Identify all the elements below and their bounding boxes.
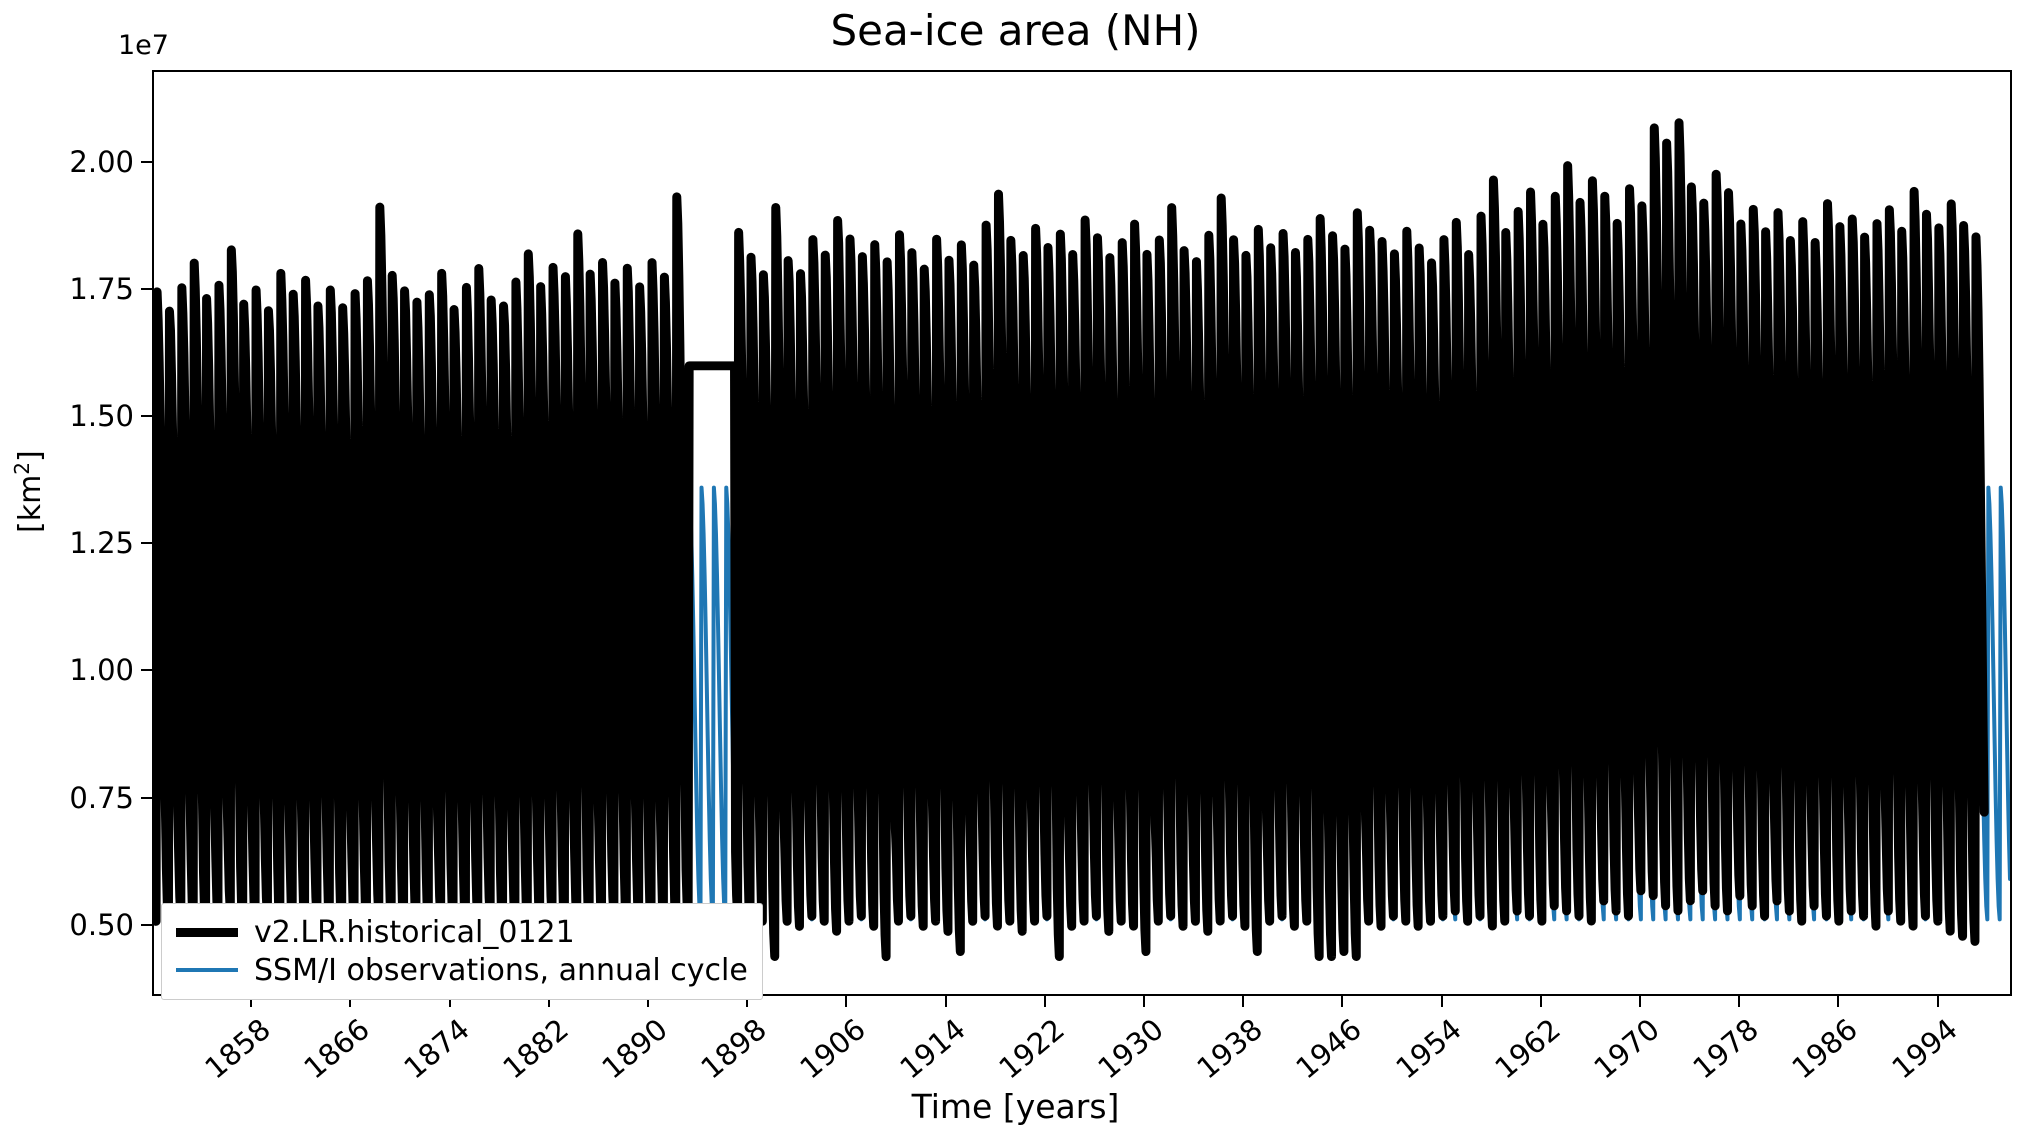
x-tick-label: 1986 <box>1783 1012 1865 1088</box>
series-model-historical <box>154 123 1984 957</box>
x-tick-label: 1970 <box>1584 1012 1666 1088</box>
plot-canvas <box>154 72 2010 994</box>
x-axis-label: Time [years] <box>0 1087 2031 1126</box>
x-tick-label: 1962 <box>1485 1012 1567 1088</box>
x-tick-label: 1882 <box>493 1012 575 1088</box>
legend-line-swatch-blue <box>176 968 238 972</box>
x-tick-mark <box>1341 996 1343 1007</box>
x-tick-mark <box>1639 996 1641 1007</box>
x-tick-label: 1978 <box>1683 1012 1765 1088</box>
x-tick-label: 1866 <box>295 1012 377 1088</box>
x-tick-mark <box>845 996 847 1007</box>
legend-item-observations[interactable]: SSM/I observations, annual cycle <box>176 951 748 989</box>
x-tick-mark <box>1242 996 1244 1007</box>
y-axis-label: [km2] <box>10 450 48 533</box>
y-tick-label: 0.50 <box>69 908 134 942</box>
x-tick-label: 1858 <box>195 1012 277 1088</box>
x-tick-mark <box>1738 996 1740 1007</box>
x-tick-mark <box>1143 996 1145 1007</box>
y-tick-mark <box>141 415 152 417</box>
figure: Sea-ice area (NH) 1e7 [km2] 0.500.751.00… <box>0 0 2031 1141</box>
y-tick-mark <box>141 288 152 290</box>
x-tick-label: 1874 <box>394 1012 476 1088</box>
y-tick-label: 2.00 <box>69 145 134 179</box>
x-tick-label: 1938 <box>1187 1012 1269 1088</box>
y-tick-mark <box>141 542 152 544</box>
x-tick-label: 1914 <box>890 1012 972 1088</box>
y-tick-label: 0.75 <box>69 781 134 815</box>
x-tick-label: 1898 <box>691 1012 773 1088</box>
legend-line-swatch-black <box>176 928 238 937</box>
y-axis-offset-text: 1e7 <box>118 30 169 61</box>
y-tick-label: 1.00 <box>69 653 134 687</box>
y-tick-label: 1.75 <box>69 272 134 306</box>
x-tick-label: 1994 <box>1882 1012 1964 1088</box>
plot-area <box>152 70 2012 996</box>
y-tick-mark <box>141 669 152 671</box>
x-tick-label: 1946 <box>1287 1012 1369 1088</box>
x-tick-mark <box>1044 996 1046 1007</box>
legend: v2.LR.historical_0121 SSM/I observations… <box>161 903 763 1000</box>
legend-label-observations: SSM/I observations, annual cycle <box>254 953 748 988</box>
x-tick-mark <box>1937 996 1939 1007</box>
x-tick-mark <box>1837 996 1839 1007</box>
x-tick-mark <box>945 996 947 1007</box>
x-tick-label: 1922 <box>989 1012 1071 1088</box>
x-tick-label: 1890 <box>592 1012 674 1088</box>
y-tick-label: 1.25 <box>69 526 134 560</box>
x-tick-label: 1906 <box>791 1012 873 1088</box>
x-tick-label: 1930 <box>1088 1012 1170 1088</box>
legend-item-model[interactable]: v2.LR.historical_0121 <box>176 913 748 951</box>
y-tick-mark <box>141 924 152 926</box>
y-tick-mark <box>141 161 152 163</box>
chart-title: Sea-ice area (NH) <box>0 6 2031 55</box>
x-tick-mark <box>1540 996 1542 1007</box>
x-tick-label: 1954 <box>1386 1012 1468 1088</box>
legend-label-model: v2.LR.historical_0121 <box>254 915 575 950</box>
y-tick-label: 1.50 <box>69 399 134 433</box>
y-tick-mark <box>141 797 152 799</box>
x-tick-mark <box>1441 996 1443 1007</box>
